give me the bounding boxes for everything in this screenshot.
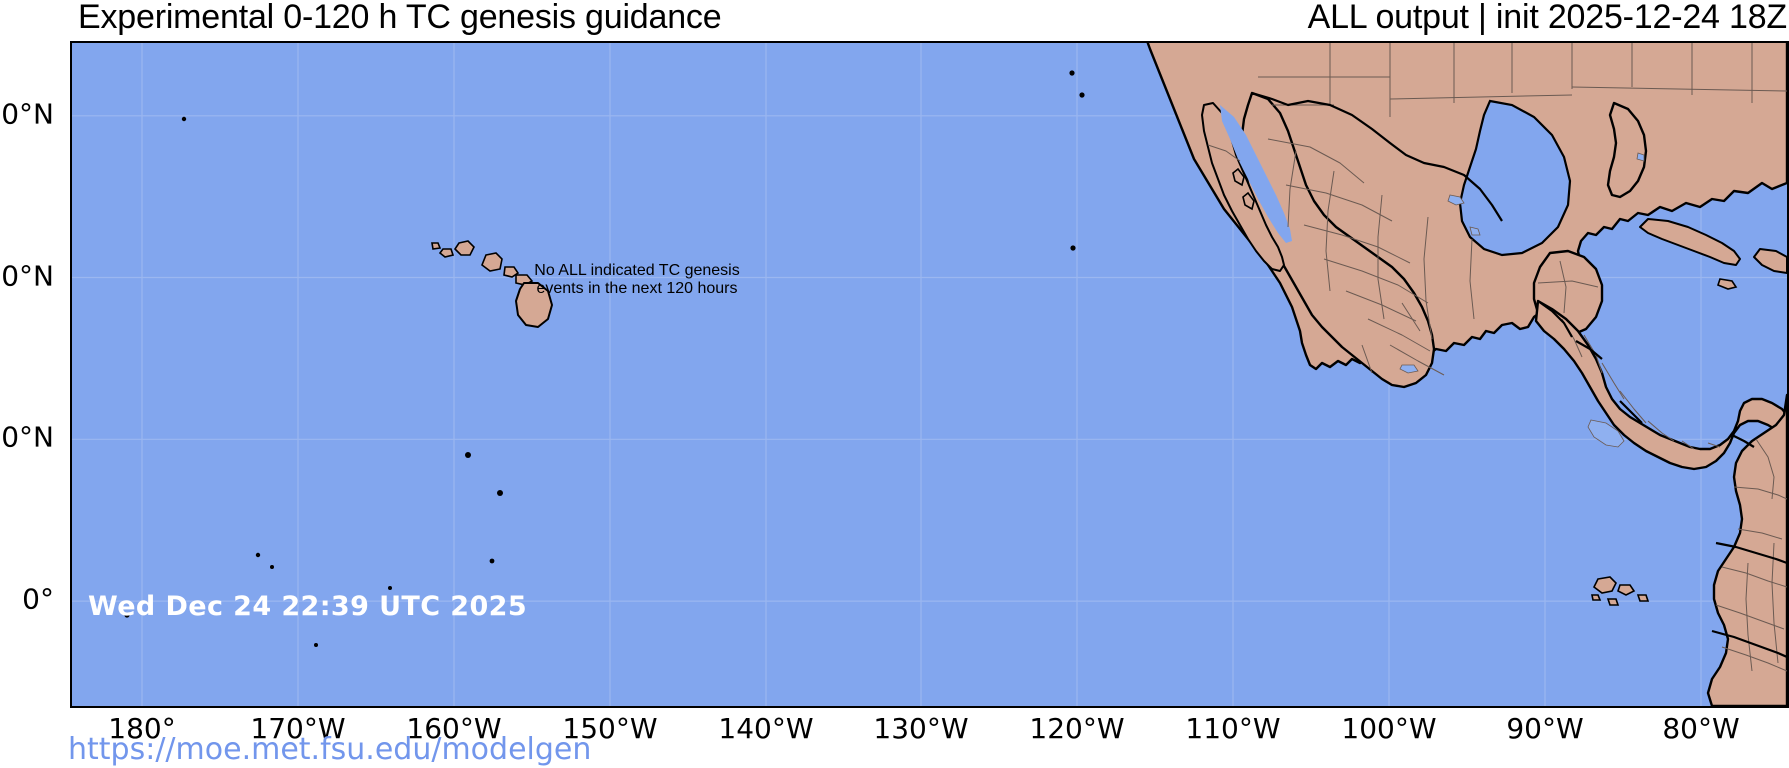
y-tick-10n: 10°N	[0, 421, 62, 454]
no-genesis-message-line-2: events in the next 120 hours	[72, 280, 1202, 298]
y-tick-0: 0°	[0, 583, 62, 616]
header-subtitle: ALL output | init 2025-12-24 18Z	[1308, 0, 1787, 37]
x-tick-140w: 140°W	[718, 712, 813, 745]
no-genesis-message: No ALL indicated TC genesis events in th…	[72, 262, 1202, 298]
map-axes[interactable]: .land { fill: #d5a894; stroke: #000000; …	[70, 41, 1789, 708]
source-url-link[interactable]: https://moe.met.fsu.edu/modelgen	[68, 732, 591, 767]
x-tick-110w: 110°W	[1185, 712, 1280, 745]
x-tick-100w: 100°W	[1341, 712, 1436, 745]
y-tick-30n: 30°N	[0, 98, 62, 131]
page-title: Experimental 0-120 h TC genesis guidance	[78, 0, 721, 37]
header: Experimental 0-120 h TC genesis guidance…	[0, 0, 1789, 42]
x-tick-80w: 80°W	[1662, 712, 1739, 745]
tc-genesis-guidance-page: Experimental 0-120 h TC genesis guidance…	[0, 0, 1789, 768]
x-tick-130w: 130°W	[873, 712, 968, 745]
y-tick-20n: 20°N	[0, 260, 62, 293]
x-tick-120w: 120°W	[1029, 712, 1124, 745]
x-tick-90w: 90°W	[1506, 712, 1583, 745]
no-genesis-message-line-1: No ALL indicated TC genesis	[72, 262, 1202, 280]
timestamp-label: Wed Dec 24 22:39 UTC 2025	[88, 591, 527, 622]
